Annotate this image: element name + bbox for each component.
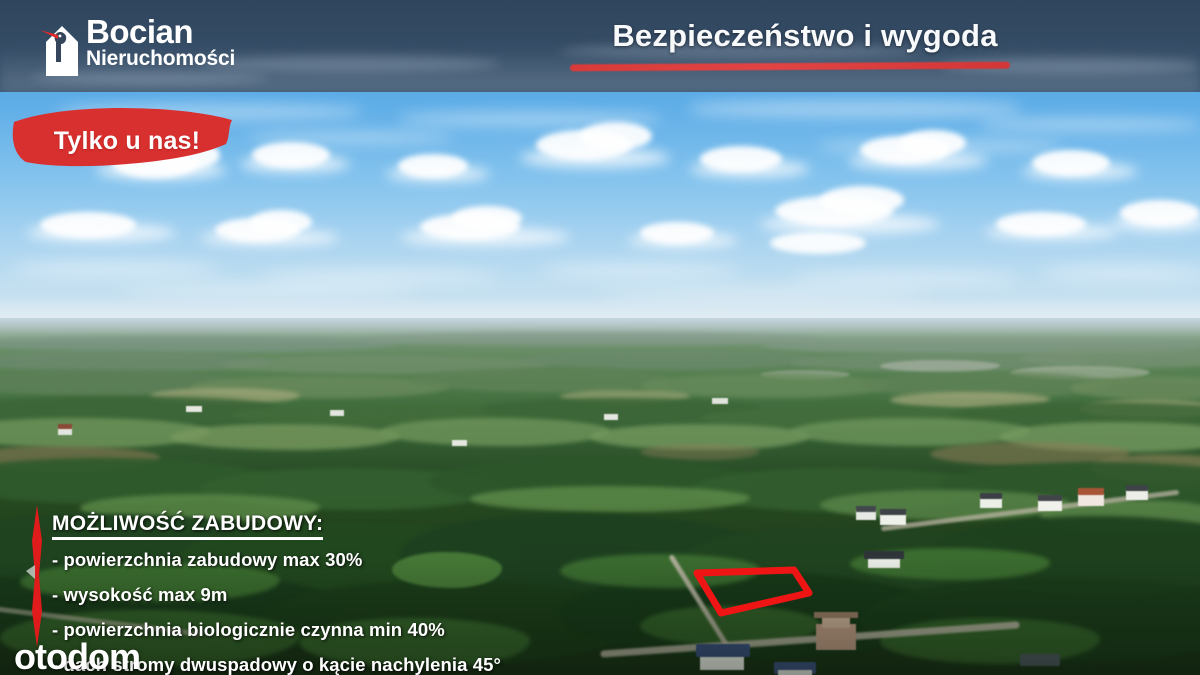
info-bullet-item: - dach stromy dwuspadowy o kącie nachyle…: [52, 654, 652, 675]
info-bullet-item: - powierzchnia biologicznie czynna min 4…: [52, 619, 652, 641]
exclusive-ribbon: Tylko u nas!: [8, 106, 238, 174]
info-heading: MOŻLIWOŚĆ ZABUDOWY:: [52, 512, 323, 540]
header-title: Bezpieczeństwo i wygoda: [570, 18, 1040, 54]
info-bullet-item: - powierzchnia zabudowy max 30%: [52, 549, 652, 571]
listing-image: Bocian Nieruchomości Bezpieczeństwo i wy…: [0, 0, 1200, 675]
info-bullet-list: - powierzchnia zabudowy max 30% - wysoko…: [52, 549, 652, 675]
brand-subtitle: Nieruchomości: [86, 48, 266, 70]
ribbon-label: Tylko u nas!: [8, 106, 238, 174]
header-bar: Bocian Nieruchomości Bezpieczeństwo i wy…: [0, 0, 1200, 92]
brand-logo[interactable]: Bocian Nieruchomości: [30, 16, 260, 78]
info-bullet-item: - wysokość max 9m: [52, 584, 652, 606]
plot-boundary-polygon: [680, 552, 830, 628]
brand-name: Bocian: [86, 14, 266, 50]
stork-house-icon: [36, 16, 88, 78]
otodom-watermark: otodom: [14, 639, 140, 675]
vertical-double-arrow-icon: [24, 505, 50, 647]
building-conditions-block: MOŻLIWOŚĆ ZABUDOWY: - powierzchnia zabud…: [52, 512, 652, 675]
